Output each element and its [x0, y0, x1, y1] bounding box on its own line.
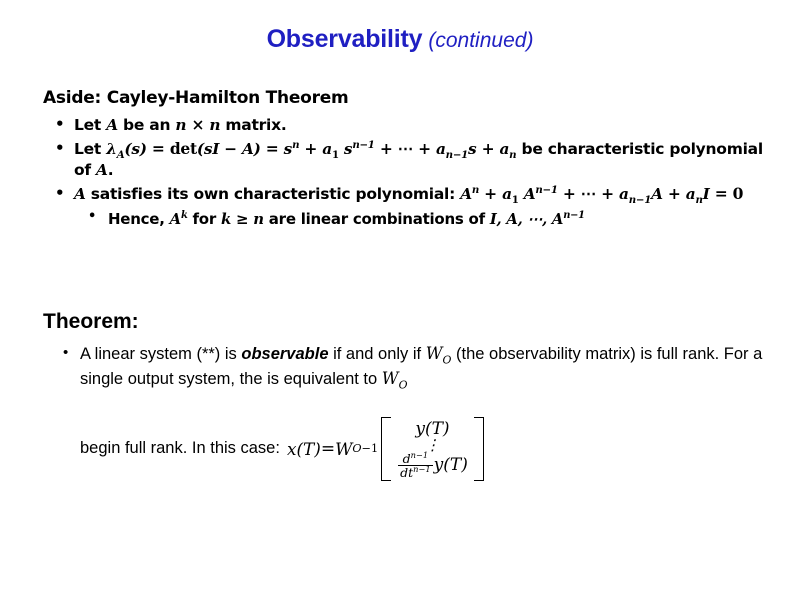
theorem-statement-text: A linear system (**) is observable if an…	[80, 345, 762, 388]
derivative-numerator: dn−1	[401, 452, 431, 465]
aside-bullet-list: • Let A be an n × n matrix. • Let λA(s) …	[43, 115, 783, 229]
aside-bullet-let-a-matrix: • Let A be an n × n matrix.	[43, 115, 783, 136]
math-var-A: A	[74, 185, 86, 203]
bracket-right	[474, 417, 484, 481]
aside-subbullet-text: Hence, Ak for k ≥ n are linear combinati…	[108, 210, 585, 228]
theorem-final-equation-line: begin full rank. In this case: x(T) = WO…	[80, 406, 788, 492]
theorem-bullet-list: • A linear system (**) is observable if …	[43, 342, 788, 492]
math-W-observability: W	[335, 437, 352, 461]
derivative-operand: y(T)	[434, 455, 468, 475]
math-var-n: n	[175, 116, 186, 134]
final-line-lead-text: begin full rank. In this case:	[80, 437, 280, 461]
page-title-main: Observability	[267, 25, 423, 53]
aside-bullet-2-text: Let λA(s) = det(sI − A) = sn + a1 sn−1 +…	[74, 140, 763, 179]
bullet-glyph: •	[63, 342, 68, 364]
theorem-heading: Theorem:	[43, 310, 788, 334]
bullet-glyph: •	[55, 138, 64, 158]
math-var-A: A	[106, 116, 118, 134]
math-W-observability: W	[426, 344, 443, 363]
column-vector-rows: y(T)⋮dn−1dtn−1y(T)	[391, 417, 474, 481]
bullet-glyph: •	[88, 208, 96, 226]
bullet-glyph: •	[55, 114, 64, 134]
aside-bullet-1-text: Let A be an n × n matrix.	[74, 116, 287, 134]
math-W-observability: W	[382, 369, 399, 388]
math-lambda: λ	[106, 140, 117, 158]
aside-sub-bullet-list: • Hence, Ak for k ≥ n are linear combina…	[74, 209, 783, 229]
math-arg-s: (s)	[124, 140, 146, 158]
state-reconstruction-equation: x(T) = WO−1y(T)⋮dn−1dtn−1y(T)	[287, 417, 484, 481]
page-title-subtitle: (continued)	[428, 29, 533, 52]
aside-bullet-satisfies-polynomial: • A satisfies its own characteristic pol…	[43, 184, 783, 229]
derivative-denominator: dtn−1	[398, 466, 433, 479]
emphasis-observable: observable	[241, 345, 328, 363]
theorem-statement: • A linear system (**) is observable if …	[43, 342, 788, 492]
math-times-operator: ×	[186, 115, 209, 134]
vector-row-derivative: dn−1dtn−1y(T)	[397, 452, 468, 480]
theorem-section: Theorem: • A linear system (**) is obser…	[43, 310, 788, 492]
bullet-glyph: •	[55, 183, 64, 203]
slide-canvas: Observability(continued) Aside: Cayley-H…	[0, 0, 800, 600]
aside-section: Aside: Cayley-Hamilton Theorem • Let A b…	[43, 88, 783, 232]
math-det-operator: det	[170, 139, 197, 158]
math-var-n: n	[209, 116, 220, 134]
output-derivative-column-vector: y(T)⋮dn−1dtn−1y(T)	[381, 417, 484, 481]
aside-subbullet-hence-linear-combinations: • Hence, Ak for k ≥ n are linear combina…	[74, 209, 783, 229]
aside-bullet-characteristic-polynomial: • Let λA(s) = det(sI − A) = sn + a1 sn−1…	[43, 139, 783, 181]
bracket-left	[381, 417, 391, 481]
derivative-fraction: dn−1dtn−1	[398, 452, 433, 480]
page-title: Observability(continued)	[0, 26, 800, 54]
math-matrix-power-list: I, A, ⋯, A	[490, 210, 563, 228]
aside-bullet-3-text: A satisfies its own characteristic polyn…	[74, 185, 743, 203]
math-var-A: A	[96, 161, 108, 179]
math-det-argument: (sI − A)	[197, 140, 261, 158]
math-geq-operator: ≥	[231, 210, 253, 228]
aside-heading: Aside: Cayley-Hamilton Theorem	[43, 88, 783, 109]
